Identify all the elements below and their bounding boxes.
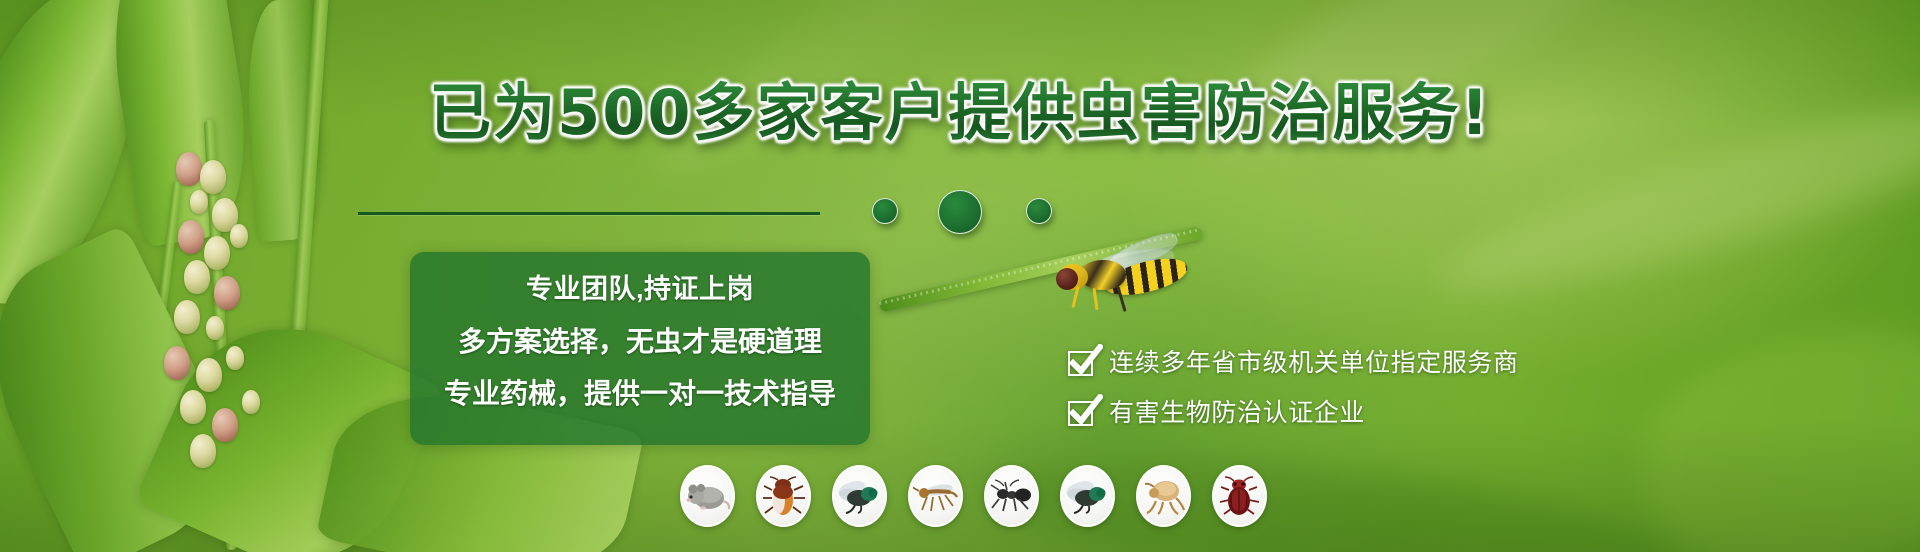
fly-eye [1056,268,1078,290]
banner-headline: 已为500多家客户提供虫害防治服务! [0,78,1920,148]
ant-icon [984,465,1039,527]
flower-bud [174,300,200,334]
flower-bud [214,276,240,310]
flower-bud [230,224,248,248]
flower-bud [212,408,238,442]
check-box-icon [1068,401,1093,426]
flower-bud [190,434,216,468]
message-panel: 专业团队,持证上岗 多方案选择，无虫才是硬道理 专业药械，提供一对一技术指导 [410,252,870,445]
credentials-checklist: 连续多年省市级机关单位指定服务商 有害生物防治认证企业 [1068,338,1588,438]
flower-bud [164,346,190,380]
mosquito-icon [908,465,963,527]
decorative-rule [358,212,820,215]
flower-bud [226,346,244,370]
flower-bud [242,390,260,414]
flower-bud [200,160,226,194]
blowfly-icon [1060,465,1115,527]
flea-icon [1136,465,1191,527]
flower-bud [178,220,204,254]
decorative-dot-small [1026,198,1052,224]
flower-bud [184,260,210,294]
cockroach-icon [756,465,811,527]
checklist-item-label: 有害生物防治认证企业 [1109,399,1365,427]
rat-icon [680,465,735,527]
panel-line-2: 多方案选择，无虫才是硬道理 [410,326,870,358]
fly-icon [832,465,887,527]
flower-bud [206,316,224,340]
check-box-icon [1068,351,1093,376]
flower-bud [204,236,230,270]
flower-bud [176,152,202,186]
flower-bud-cluster [170,150,370,480]
panel-line-1: 专业团队,持证上岗 [410,274,870,304]
pest-icon-strip [680,465,1267,527]
checklist-item-label: 连续多年省市级机关单位指定服务商 [1109,349,1519,377]
hover-fly-icon [1050,248,1190,314]
flower-bud [196,358,222,392]
decorative-dot-large [938,190,982,234]
panel-line-3: 专业药械，提供一对一技术指导 [410,378,870,410]
promo-banner: 已为500多家客户提供虫害防治服务! 专业团队,持证上岗 多方案选择，无虫才是硬… [0,0,1920,552]
checklist-item: 有害生物防治认证企业 [1068,388,1588,438]
bedbug-icon [1212,465,1267,527]
flower-bud [180,390,206,424]
decorative-dot-small [872,198,898,224]
fly-leg [1092,288,1098,310]
flower-bud [190,190,208,214]
checklist-item: 连续多年省市级机关单位指定服务商 [1068,338,1588,388]
